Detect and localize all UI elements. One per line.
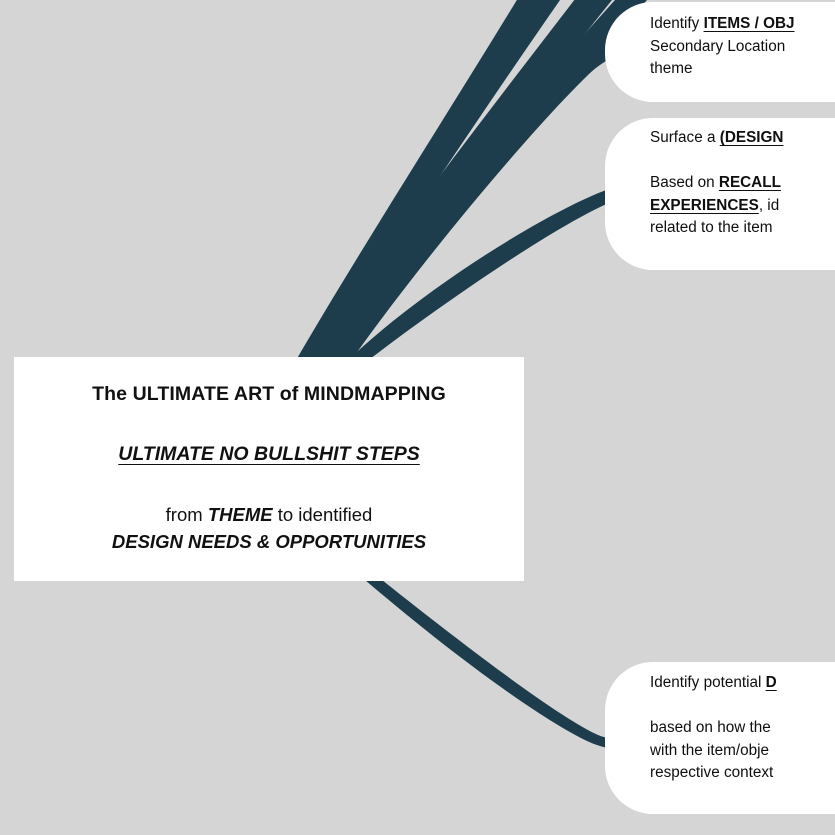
- bubble-text-line: related to the item: [650, 217, 835, 240]
- bubble-items-objects-text: Identify ITEMS / OBJSecondary Locationth…: [650, 13, 835, 81]
- bubble-items-objects[interactable]: Identify ITEMS / OBJSecondary Locationth…: [605, 2, 835, 102]
- emphasis-term: (DESIGN: [720, 129, 784, 146]
- central-node-title: The ULTIMATE ART of MINDMAPPING: [92, 383, 446, 406]
- bubble-design-needs-text: Identify potential Dbased on how thewith…: [650, 672, 835, 785]
- tagline-emphasis: THEME: [208, 504, 273, 525]
- central-node-tagline: from THEME to identified: [166, 504, 373, 526]
- text-run: respective context: [650, 764, 773, 781]
- text-spacer: [650, 695, 835, 718]
- bubble-text-line: respective context: [650, 762, 835, 785]
- branch-to-items-objects: [334, 43, 650, 362]
- emphasis-term: ITEMS / OBJ: [704, 15, 795, 32]
- emphasis-term: D: [766, 674, 777, 691]
- bubble-text-line: based on how the: [650, 717, 835, 740]
- bubble-text-line: Identify ITEMS / OBJ: [650, 13, 835, 36]
- bubble-text-line: with the item/obje: [650, 740, 835, 763]
- bubble-text-line: Identify potential D: [650, 672, 835, 695]
- bubble-text-line: EXPERIENCES, id: [650, 195, 835, 218]
- emphasis-term: RECALL: [719, 174, 781, 191]
- text-run: Surface a: [650, 129, 720, 146]
- bubble-text-line: Based on RECALL: [650, 172, 835, 195]
- text-run: , id: [759, 197, 779, 214]
- text-run: related to the item: [650, 219, 772, 236]
- branch-offscreen-2: [310, 0, 620, 362]
- text-run: Secondary Location: [650, 38, 785, 55]
- emphasis-term: EXPERIENCES: [650, 197, 759, 214]
- tagline-prefix: from: [166, 504, 208, 525]
- text-run: Identify: [650, 15, 704, 32]
- text-run: based on how the: [650, 719, 771, 736]
- text-spacer: [650, 150, 835, 173]
- central-node[interactable]: The ULTIMATE ART of MINDMAPPING ULTIMATE…: [14, 357, 524, 581]
- tagline-suffix: to identified: [273, 504, 373, 525]
- text-run: theme: [650, 60, 693, 77]
- central-node-subtitle: ULTIMATE NO BULLSHIT STEPS: [118, 443, 420, 466]
- bubble-design-recall-text: Surface a (DESIGNBased on RECALLEXPERIEN…: [650, 127, 835, 240]
- bubble-text-line: Secondary Location: [650, 36, 835, 59]
- text-run: Based on: [650, 174, 719, 191]
- branch-offscreen-1: [295, 0, 567, 362]
- bubble-design-recall[interactable]: Surface a (DESIGNBased on RECALLEXPERIEN…: [605, 118, 835, 270]
- central-node-tagline-line2: DESIGN NEEDS & OPPORTUNITIES: [112, 531, 426, 553]
- bubble-design-needs[interactable]: Identify potential Dbased on how thewith…: [605, 662, 835, 814]
- text-run: Identify potential: [650, 674, 766, 691]
- bubble-text-line: theme: [650, 58, 835, 81]
- text-run: with the item/obje: [650, 742, 769, 759]
- bubble-text-line: Surface a (DESIGN: [650, 127, 835, 150]
- mindmap-canvas: The ULTIMATE ART of MINDMAPPING ULTIMATE…: [0, 0, 835, 835]
